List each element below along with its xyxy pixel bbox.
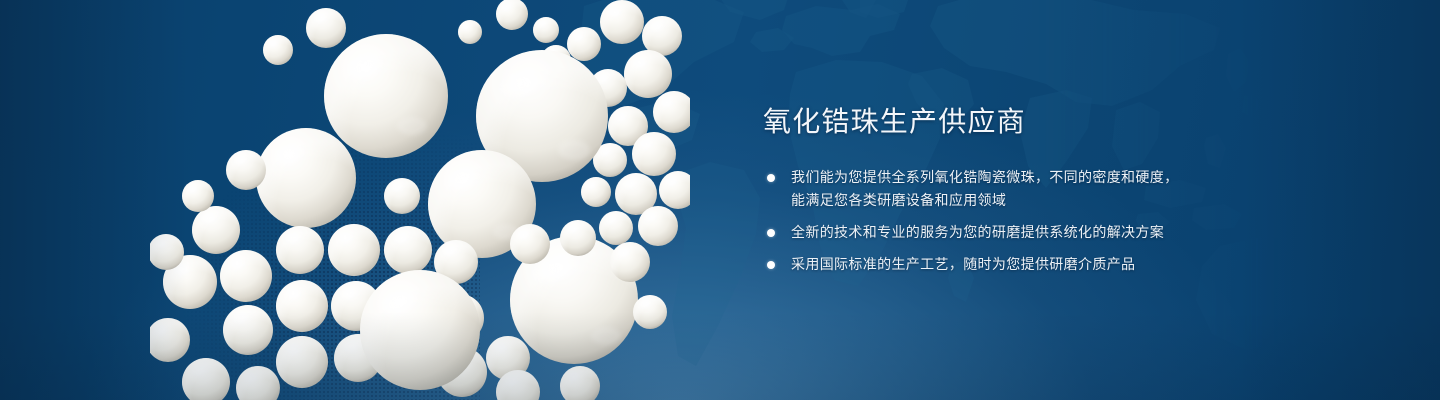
feature-item-1-line1: 我们能为您提供全系列氧化锆陶瓷微珠，不同的密度和硬度， [791,169,1178,185]
bullet-dot-icon [767,229,775,237]
zirconia-beads-image [150,0,690,400]
banner-headline: 氧化锆珠生产供应商 [763,104,1323,140]
feature-item-1: 我们能为您提供全系列氧化锆陶瓷微珠，不同的密度和硬度， 能满足您各类研磨设备和应… [763,166,1323,212]
bullet-dot-icon [767,261,775,269]
feature-item-2-line1: 全新的技术和专业的服务为您的研磨提供系统化的解决方案 [791,224,1164,240]
feature-item-3-line1: 采用国际标准的生产工艺，随时为您提供研磨介质产品 [791,256,1135,272]
banner-copy: 氧化锆珠生产供应商 我们能为您提供全系列氧化锆陶瓷微珠，不同的密度和硬度， 能满… [763,104,1323,276]
feature-item-3: 采用国际标准的生产工艺，随时为您提供研磨介质产品 [763,253,1323,276]
banner-feature-list: 我们能为您提供全系列氧化锆陶瓷微珠，不同的密度和硬度， 能满足您各类研磨设备和应… [763,166,1323,276]
bullet-dot-icon [767,174,775,182]
feature-item-1-line2: 能满足您各类研磨设备和应用领域 [791,189,1323,212]
hero-banner: 氧化锆珠生产供应商 我们能为您提供全系列氧化锆陶瓷微珠，不同的密度和硬度， 能满… [0,0,1440,400]
feature-item-2: 全新的技术和专业的服务为您的研磨提供系统化的解决方案 [763,221,1323,244]
